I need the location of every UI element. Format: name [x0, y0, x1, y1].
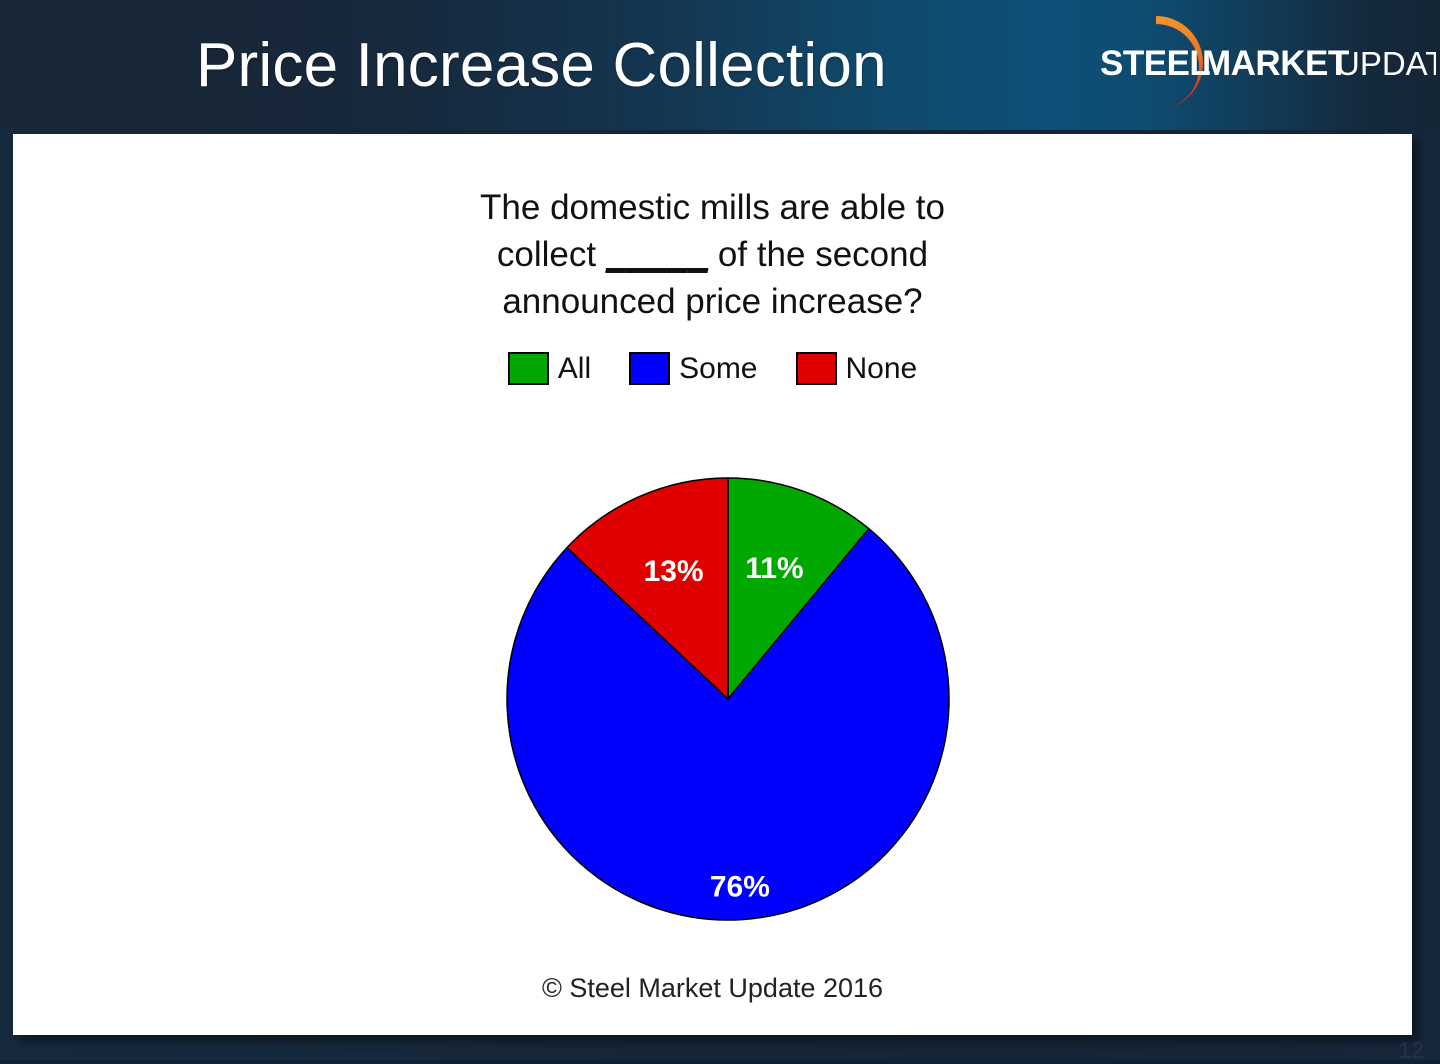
slide-content-card: The domestic mills are able to collect _… [13, 134, 1412, 1035]
legend-swatch-none [796, 352, 837, 385]
legend-label-none: None [846, 352, 918, 385]
slide-background: Price Increase Collection STEEL [0, 0, 1440, 1060]
chart-title-line-3: announced price increase? [13, 278, 1412, 325]
chart-title-blank: _____ [606, 235, 708, 274]
pie-label-none: 13% [644, 555, 704, 588]
page-title: Price Increase Collection [196, 28, 887, 104]
chart-title-line-2-after: of the second [718, 235, 928, 274]
legend-label-some: Some [679, 352, 757, 385]
legend-swatch-some [629, 352, 670, 385]
logo-word-update: UPDATE [1336, 45, 1436, 82]
logo-word-market: MARKET [1202, 44, 1349, 83]
copyright-text: © Steel Market Update 2016 [13, 973, 1412, 1004]
pie-label-some: 76% [710, 871, 770, 904]
chart-title-line-1: The domestic mills are able to [13, 184, 1412, 231]
legend-swatch-all [508, 352, 549, 385]
chart-legend: All Some None [13, 352, 1412, 385]
pie-label-all: 11% [745, 552, 803, 585]
legend-item-none[interactable]: None [796, 352, 918, 385]
pie-chart: 11%76%13% [493, 464, 963, 934]
chart-title-line-2-before: collect [497, 235, 596, 274]
steel-market-update-logo: STEEL MARKET UPDATE [1098, 10, 1436, 116]
legend-label-all: All [558, 352, 591, 385]
chart-title-line-2: collect _____ of the second [13, 231, 1412, 278]
pie-slice-group [507, 478, 949, 920]
legend-item-all[interactable]: All [508, 352, 591, 385]
chart-title: The domestic mills are able to collect _… [13, 184, 1412, 325]
slide-header: Price Increase Collection STEEL [0, 0, 1440, 132]
legend-item-some[interactable]: Some [629, 352, 757, 385]
logo-word-steel: STEEL [1100, 44, 1210, 83]
